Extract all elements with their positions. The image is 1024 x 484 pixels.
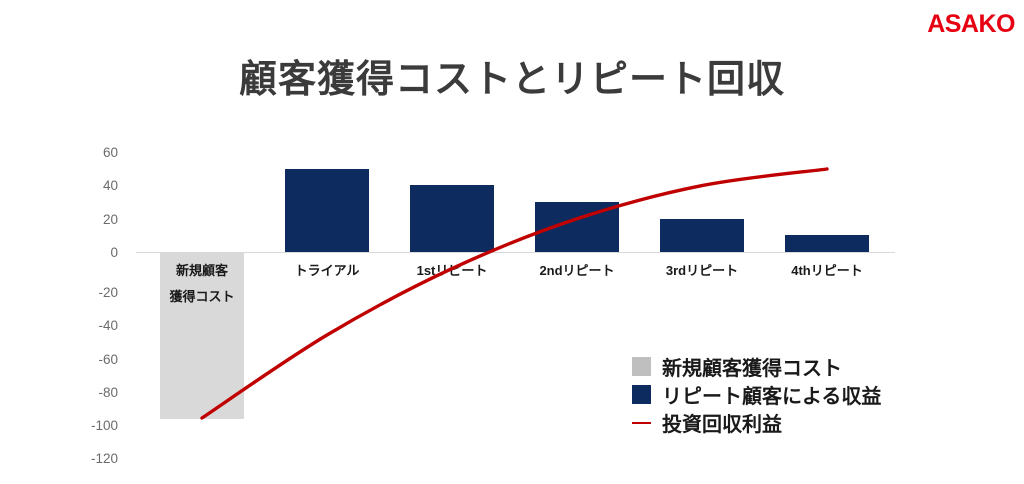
legend-item-cost: 新規顧客獲得コスト bbox=[632, 352, 942, 380]
chart-legend: 新規顧客獲得コスト リピート顧客による収益 投資回収利益 bbox=[632, 352, 942, 436]
legend-item-roi: 投資回収利益 bbox=[632, 408, 942, 436]
legend-swatch-navy-icon bbox=[632, 385, 651, 404]
legend-swatch-gray-icon bbox=[632, 357, 651, 376]
legend-item-revenue: リピート顧客による収益 bbox=[632, 380, 942, 408]
slide-canvas: ASAKO 顧客獲得コストとリピート回収 60 40 20 0 -20 -40 … bbox=[0, 0, 1024, 484]
legend-label-cost: 新規顧客獲得コスト bbox=[662, 352, 842, 381]
legend-swatch-line-icon bbox=[632, 413, 651, 432]
legend-label-revenue: リピート顧客による収益 bbox=[662, 380, 881, 409]
legend-label-roi: 投資回収利益 bbox=[662, 408, 782, 437]
